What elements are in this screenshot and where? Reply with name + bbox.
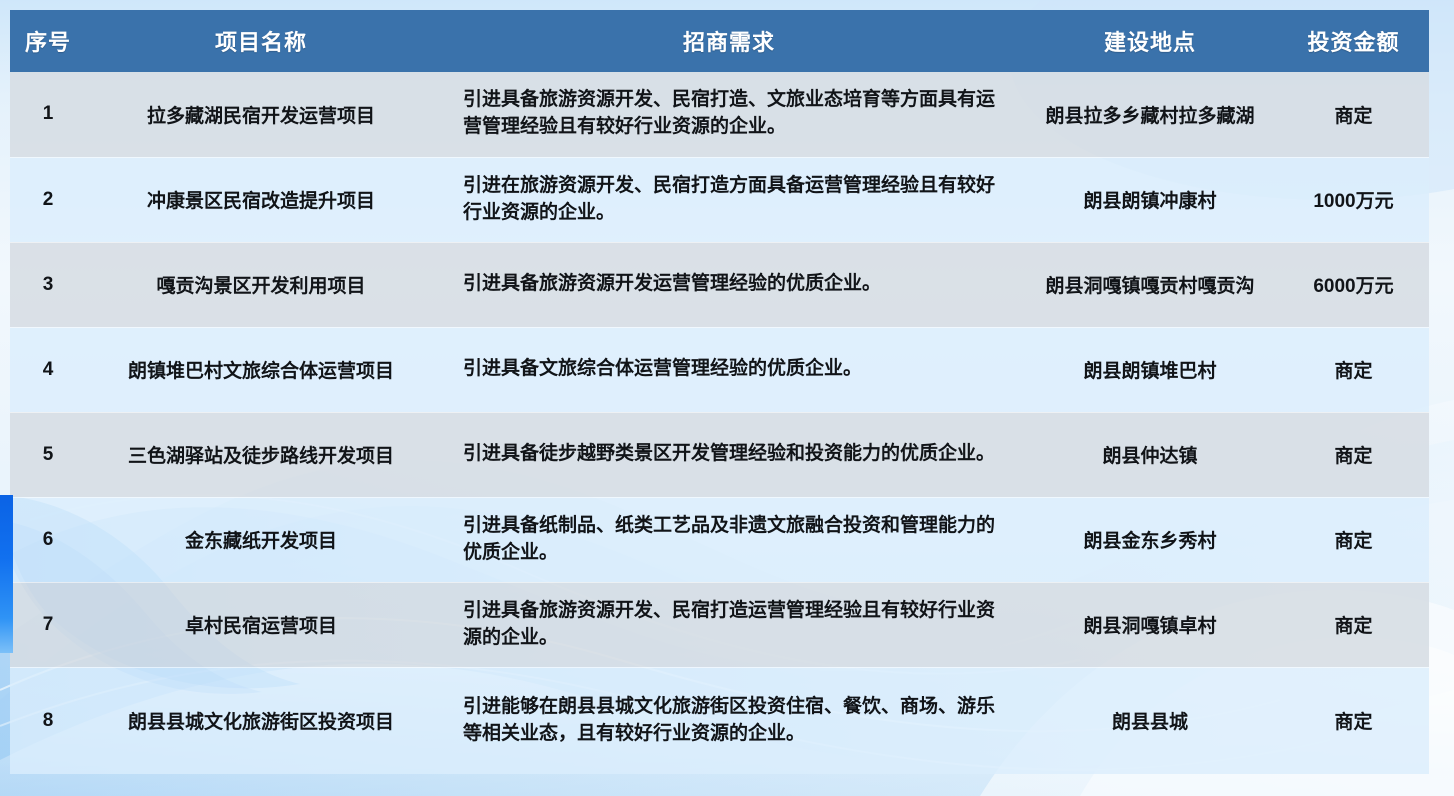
cell-site: 朗县拉多乡藏村拉多藏湖: [1022, 72, 1278, 157]
left-accent-bar: [0, 495, 13, 653]
cell-amount: 1000万元: [1278, 157, 1429, 242]
cell-amount: 商定: [1278, 327, 1429, 412]
table-row[interactable]: 4 朗镇堆巴村文旅综合体运营项目 引进具备文旅综合体运营管理经验的优质企业。 朗…: [10, 327, 1429, 412]
cell-no: 3: [10, 242, 86, 327]
header-row: 序号 项目名称 招商需求 建设地点 投资金额: [10, 10, 1429, 72]
cell-site: 朗县洞嘎镇卓村: [1022, 582, 1278, 667]
cell-no: 2: [10, 157, 86, 242]
cell-demand: 引进能够在朗县县城文化旅游街区投资住宿、餐饮、商场、游乐等相关业态，且有较好行业…: [436, 667, 1022, 774]
table-row[interactable]: 5 三色湖驿站及徒步路线开发项目 引进具备徒步越野类景区开发管理经验和投资能力的…: [10, 412, 1429, 497]
cell-demand: 引进具备徒步越野类景区开发管理经验和投资能力的优质企业。: [436, 412, 1022, 497]
cell-name: 拉多藏湖民宿开发运营项目: [86, 72, 436, 157]
cell-site: 朗县朗镇冲康村: [1022, 157, 1278, 242]
cell-amount: 商定: [1278, 582, 1429, 667]
cell-name: 卓村民宿运营项目: [86, 582, 436, 667]
table-header: 序号 项目名称 招商需求 建设地点 投资金额: [10, 10, 1429, 72]
cell-name: 金东藏纸开发项目: [86, 497, 436, 582]
column-header-demand[interactable]: 招商需求: [436, 10, 1022, 72]
cell-amount: 6000万元: [1278, 242, 1429, 327]
column-header-site[interactable]: 建设地点: [1022, 10, 1278, 72]
cell-site: 朗县仲达镇: [1022, 412, 1278, 497]
column-header-name[interactable]: 项目名称: [86, 10, 436, 72]
table-row[interactable]: 3 嘎贡沟景区开发利用项目 引进具备旅游资源开发运营管理经验的优质企业。 朗县洞…: [10, 242, 1429, 327]
table-body: 1 拉多藏湖民宿开发运营项目 引进具备旅游资源开发、民宿打造、文旅业态培育等方面…: [10, 72, 1429, 774]
cell-no: 8: [10, 667, 86, 774]
cell-name: 嘎贡沟景区开发利用项目: [86, 242, 436, 327]
cell-demand: 引进具备旅游资源开发运营管理经验的优质企业。: [436, 242, 1022, 327]
cell-amount: 商定: [1278, 72, 1429, 157]
investment-projects-table: 序号 项目名称 招商需求 建设地点 投资金额 1 拉多藏湖民宿开发运营项目 引进…: [10, 10, 1429, 774]
cell-no: 7: [10, 582, 86, 667]
project-table-container: 序号 项目名称 招商需求 建设地点 投资金额 1 拉多藏湖民宿开发运营项目 引进…: [10, 10, 1429, 776]
column-header-no[interactable]: 序号: [10, 10, 86, 72]
cell-name: 朗县县城文化旅游街区投资项目: [86, 667, 436, 774]
column-header-amount[interactable]: 投资金额: [1278, 10, 1429, 72]
cell-amount: 商定: [1278, 667, 1429, 774]
cell-no: 5: [10, 412, 86, 497]
cell-demand: 引进在旅游资源开发、民宿打造方面具备运营管理经验且有较好行业资源的企业。: [436, 157, 1022, 242]
cell-demand: 引进具备旅游资源开发、民宿打造运营管理经验且有较好行业资源的企业。: [436, 582, 1022, 667]
cell-no: 6: [10, 497, 86, 582]
cell-amount: 商定: [1278, 497, 1429, 582]
table-row[interactable]: 2 冲康景区民宿改造提升项目 引进在旅游资源开发、民宿打造方面具备运营管理经验且…: [10, 157, 1429, 242]
cell-name: 冲康景区民宿改造提升项目: [86, 157, 436, 242]
table-row[interactable]: 6 金东藏纸开发项目 引进具备纸制品、纸类工艺品及非遗文旅融合投资和管理能力的优…: [10, 497, 1429, 582]
cell-demand: 引进具备文旅综合体运营管理经验的优质企业。: [436, 327, 1022, 412]
cell-site: 朗县朗镇堆巴村: [1022, 327, 1278, 412]
cell-no: 1: [10, 72, 86, 157]
cell-name: 三色湖驿站及徒步路线开发项目: [86, 412, 436, 497]
cell-amount: 商定: [1278, 412, 1429, 497]
cell-site: 朗县洞嘎镇嘎贡村嘎贡沟: [1022, 242, 1278, 327]
cell-name: 朗镇堆巴村文旅综合体运营项目: [86, 327, 436, 412]
cell-demand: 引进具备旅游资源开发、民宿打造、文旅业态培育等方面具有运营管理经验且有较好行业资…: [436, 72, 1022, 157]
cell-site: 朗县县城: [1022, 667, 1278, 774]
cell-site: 朗县金东乡秀村: [1022, 497, 1278, 582]
table-row[interactable]: 8 朗县县城文化旅游街区投资项目 引进能够在朗县县城文化旅游街区投资住宿、餐饮、…: [10, 667, 1429, 774]
cell-demand: 引进具备纸制品、纸类工艺品及非遗文旅融合投资和管理能力的优质企业。: [436, 497, 1022, 582]
table-row[interactable]: 7 卓村民宿运营项目 引进具备旅游资源开发、民宿打造运营管理经验且有较好行业资源…: [10, 582, 1429, 667]
table-row[interactable]: 1 拉多藏湖民宿开发运营项目 引进具备旅游资源开发、民宿打造、文旅业态培育等方面…: [10, 72, 1429, 157]
cell-no: 4: [10, 327, 86, 412]
